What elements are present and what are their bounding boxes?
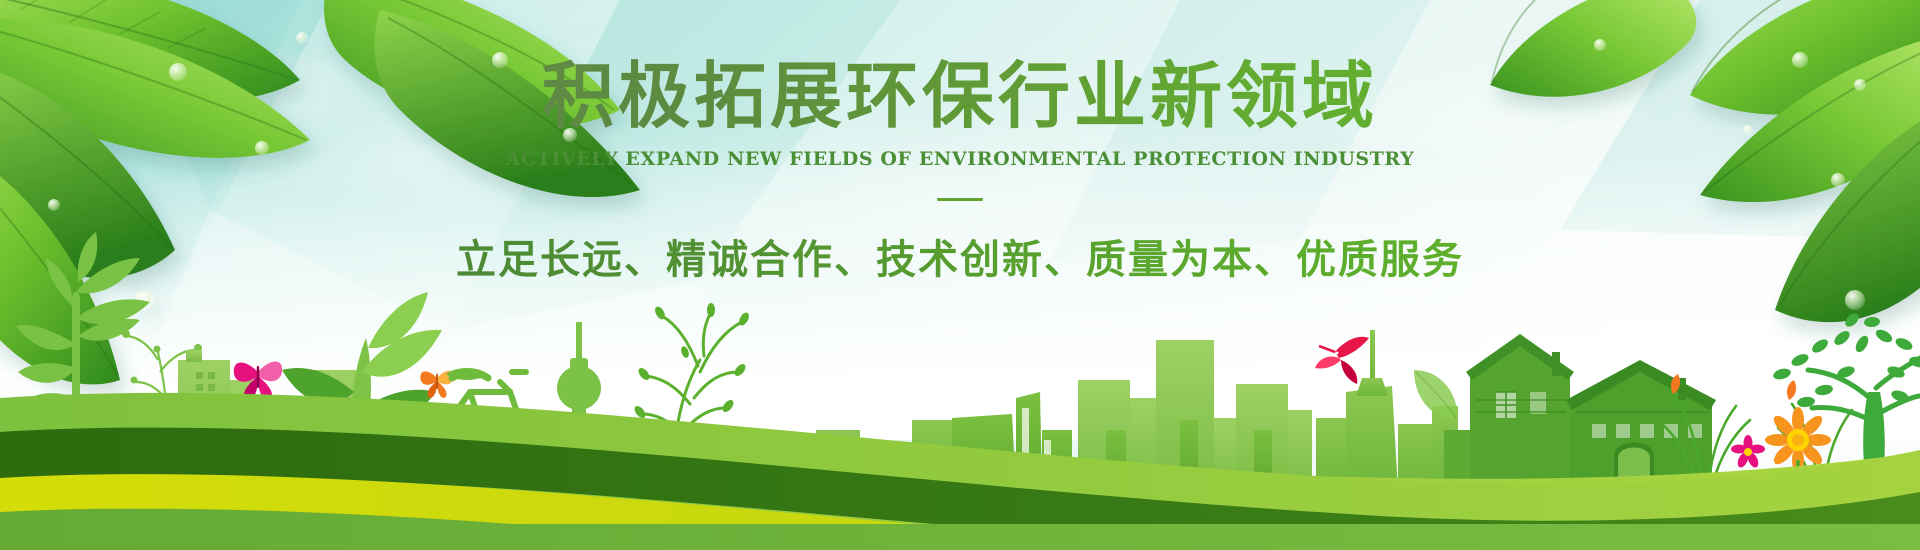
flower-icon: [834, 444, 856, 466]
page-subtitle: ACTIVELY EXPAND NEW FIELDS OF ENVIRONMEN…: [506, 148, 1415, 170]
eco-banner: 积极拓展环保行业新领域 ACTIVELY EXPAND NEW FIELDS O…: [0, 0, 1920, 550]
page-tagline: 立足长远、精诚合作、技术创新、质量为本、优质服务: [456, 227, 1464, 285]
title-divider: [937, 198, 983, 201]
ladybug-icon: [986, 462, 1032, 506]
page-title: 积极拓展环保行业新领域: [542, 58, 1378, 134]
flower-icon: [1731, 435, 1765, 469]
banner-text-block: 积极拓展环保行业新领域 ACTIVELY EXPAND NEW FIELDS O…: [0, 0, 1920, 330]
